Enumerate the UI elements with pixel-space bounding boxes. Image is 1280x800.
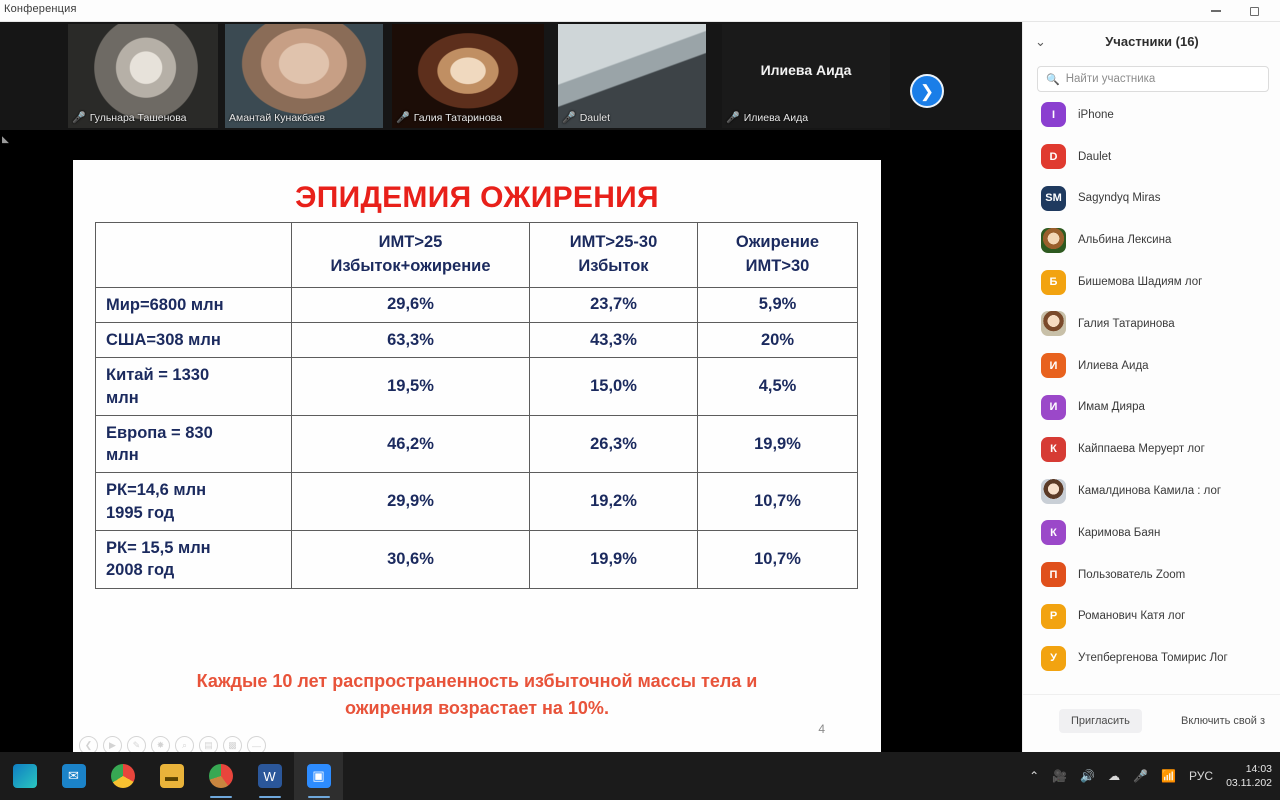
video-tile-centername: Илиева Аида — [722, 62, 890, 78]
row-value: 63,3% — [292, 323, 530, 358]
participants-panel-footer: Пригласить Включить свой з — [1023, 694, 1280, 752]
participant-row[interactable]: И Имам Дияра — [1023, 387, 1280, 429]
table-header-col3: Ожирение ИМТ>30 — [698, 223, 858, 288]
running-indicator — [259, 796, 281, 798]
video-tile-name: Амантай Кунакбаев — [229, 112, 325, 124]
row-value: 29,6% — [292, 287, 530, 322]
row-value: 43,3% — [530, 323, 698, 358]
participant-search-placeholder: Найти участника — [1066, 73, 1156, 85]
show-hidden-icons-icon[interactable]: ⌃ — [1029, 769, 1039, 783]
participant-name: Кайппаева Меруерт лог — [1078, 443, 1205, 455]
participant-name: Daulet — [1078, 151, 1111, 163]
row-value: 19,9% — [530, 530, 698, 588]
row-label: Китай = 1330 млн — [96, 358, 292, 416]
unmute-button[interactable]: Включить свой з — [1181, 709, 1280, 733]
taskbar-item-zoom[interactable]: ▣ — [294, 752, 343, 800]
row-label: РК=14,6 млн 1995 год — [96, 473, 292, 531]
table-row: РК= 15,5 млн 2008 год 30,6% 19,9% 10,7% — [96, 530, 858, 588]
row-value: 19,9% — [698, 415, 858, 473]
video-tile-namebar: 🎤 Daulet — [558, 110, 614, 126]
folder-icon: ▬ — [160, 764, 184, 788]
row-value: 10,7% — [698, 530, 858, 588]
muted-mic-icon: 🎤 — [562, 113, 576, 124]
row-value: 19,5% — [292, 358, 530, 416]
table-header-col1: ИМТ>25 Избыток+ожирение — [292, 223, 530, 288]
cloud-icon[interactable]: ☁ — [1108, 769, 1120, 783]
participant-row[interactable]: Альбина Лексина — [1023, 219, 1280, 261]
taskbar-app-icons: ✉ ▬ W ▣ — [0, 752, 343, 800]
row-label: США=308 млн — [96, 323, 292, 358]
zoom-meeting-window: Конференция 🎤 Гульнара Ташенова Амантай … — [0, 0, 1280, 800]
avatar: D — [1041, 144, 1066, 169]
video-tile-active[interactable]: Амантай Кунакбаев — [225, 24, 383, 128]
participant-row[interactable]: I iPhone — [1023, 94, 1280, 136]
video-tile[interactable]: 🎤 Daulet — [558, 24, 706, 128]
row-value: 4,5% — [698, 358, 858, 416]
video-tile-namebar: 🎤 Галия Татаринова — [392, 110, 506, 126]
chevron-right-icon: ❯ — [920, 83, 934, 100]
row-value: 15,0% — [530, 358, 698, 416]
participant-search-input[interactable]: 🔍 Найти участника — [1037, 66, 1269, 92]
avatar: Р — [1041, 604, 1066, 629]
avatar: Б — [1041, 270, 1066, 295]
slide-footer-note: Каждые 10 лет распространенность избыточ… — [113, 668, 841, 722]
participant-name: Утепбергенова Томирис Лог — [1078, 652, 1228, 664]
row-value: 5,9% — [698, 287, 858, 322]
avatar: К — [1041, 520, 1066, 545]
row-value: 26,3% — [530, 415, 698, 473]
edge-icon — [13, 764, 37, 788]
minimize-icon — [1211, 10, 1221, 12]
participant-row[interactable]: И Илиева Аида — [1023, 345, 1280, 387]
row-value: 19,2% — [530, 473, 698, 531]
participant-row[interactable]: Р Романович Катя лог — [1023, 596, 1280, 638]
presentation-slide: ЭПИДЕМИЯ ОЖИРЕНИЯ ИМТ>25 Избыток+ожирени… — [73, 160, 881, 760]
video-tile-name: Илиева Аида — [744, 112, 808, 124]
row-value: 23,7% — [530, 287, 698, 322]
participant-row[interactable]: Камалдинова Камила : лог — [1023, 470, 1280, 512]
participant-name: Бишемова Шадиям лог — [1078, 276, 1202, 288]
video-tile-audio-only[interactable]: Илиева Аида 🎤 Илиева Аида — [722, 24, 890, 128]
participants-panel: ⌄ Участники (16) 🔍 Найти участника I iPh… — [1022, 22, 1280, 752]
participant-name: Камалдинова Камила : лог — [1078, 485, 1221, 497]
row-value: 29,9% — [292, 473, 530, 531]
participant-name: Пользователь Zoom — [1078, 569, 1185, 581]
avatar: SM — [1041, 186, 1066, 211]
taskbar-item-chrome[interactable] — [98, 752, 147, 800]
table-row: Мир=6800 млн 29,6% 23,7% 5,9% — [96, 287, 858, 322]
participant-row[interactable]: П Пользователь Zoom — [1023, 554, 1280, 596]
table-header-blank — [96, 223, 292, 288]
participant-row[interactable]: Галия Татаринова — [1023, 303, 1280, 345]
system-tray: ⌃ 🎥 🔊 ☁ 🎤 📶 РУС 14:03 03.11.202 — [1029, 752, 1280, 800]
language-indicator[interactable]: РУС — [1189, 769, 1213, 783]
taskbar-item-edge[interactable] — [0, 752, 49, 800]
participant-name: Илиева Аида — [1078, 360, 1149, 372]
window-title: Конференция — [4, 3, 77, 15]
invite-button[interactable]: Пригласить — [1059, 709, 1142, 733]
row-label: РК= 15,5 млн 2008 год — [96, 530, 292, 588]
table-row: США=308 млн 63,3% 43,3% 20% — [96, 323, 858, 358]
participant-row[interactable]: SM Sagyndyq Miras — [1023, 178, 1280, 220]
volume-icon[interactable]: 🔊 — [1080, 769, 1095, 783]
word-icon: W — [258, 764, 282, 788]
avatar: У — [1041, 646, 1066, 671]
obesity-statistics-table: ИМТ>25 Избыток+ожирение ИМТ>25-30 Избыто… — [95, 222, 858, 589]
row-label: Европа = 830 млн — [96, 415, 292, 473]
avatar: П — [1041, 562, 1066, 587]
avatar-photo — [1041, 311, 1066, 336]
table-header-row: ИМТ>25 Избыток+ожирение ИМТ>25-30 Избыто… — [96, 223, 858, 288]
shared-screen-stage: ◣ ЭПИДЕМИЯ ОЖИРЕНИЯ ИМТ>25 Избыток+ожире… — [0, 130, 1022, 752]
row-value: 10,7% — [698, 473, 858, 531]
taskbar-item-word[interactable]: W — [245, 752, 294, 800]
row-value: 46,2% — [292, 415, 530, 473]
participant-name: Sagyndyq Miras — [1078, 192, 1160, 204]
table-header-col2: ИМТ>25-30 Избыток — [530, 223, 698, 288]
microphone-icon[interactable]: 🎤 — [1133, 769, 1148, 783]
participant-name: iPhone — [1078, 109, 1114, 121]
meeting-area: 🎤 Гульнара Ташенова Амантай Кунакбаев 🎤 … — [0, 22, 1022, 752]
avatar: К — [1041, 437, 1066, 462]
participant-name: Каримова Баян — [1078, 527, 1160, 539]
participant-row[interactable]: К Каримова Баян — [1023, 512, 1280, 554]
next-page-arrow-icon[interactable]: ❯ — [910, 74, 944, 108]
video-tile-name: Галия Татаринова — [414, 112, 502, 124]
network-icon[interactable]: 📶 — [1161, 769, 1176, 783]
clock[interactable]: 14:03 03.11.202 — [1226, 762, 1272, 790]
participant-name: Альбина Лексина — [1078, 234, 1171, 246]
avatar-photo — [1041, 479, 1066, 504]
row-value: 20% — [698, 323, 858, 358]
running-indicator — [308, 796, 330, 798]
search-icon: 🔍 — [1046, 73, 1060, 86]
participant-name: Романович Катя лог — [1078, 610, 1185, 622]
participant-row[interactable]: Б Бишемова Шадиям лог — [1023, 261, 1280, 303]
participant-row[interactable]: К Кайппаева Меруерт лог — [1023, 428, 1280, 470]
participants-panel-header: ⌄ Участники (16) — [1023, 22, 1280, 62]
avatar: И — [1041, 395, 1066, 420]
window-titlebar: Конференция — [0, 0, 1280, 22]
running-indicator — [210, 796, 232, 798]
stage-corner-marker: ◣ — [2, 134, 9, 145]
maximize-button[interactable] — [1238, 0, 1270, 22]
chrome-profile-icon — [209, 764, 233, 788]
camera-icon[interactable]: 🎥 — [1052, 769, 1067, 783]
row-label: Мир=6800 млн — [96, 287, 292, 322]
participant-row[interactable]: У Утепбергенова Томирис Лог — [1023, 637, 1280, 674]
minimize-button[interactable] — [1200, 0, 1232, 22]
table-row: Европа = 830 млн 46,2% 26,3% 19,9% — [96, 415, 858, 473]
participant-name: Имам Дияра — [1078, 401, 1145, 413]
table-row: Китай = 1330 млн 19,5% 15,0% 4,5% — [96, 358, 858, 416]
video-tile[interactable]: 🎤 Галия Татаринова — [392, 24, 544, 128]
video-tile-name: Гульнара Ташенова — [90, 112, 187, 124]
mail-icon: ✉ — [62, 764, 86, 788]
taskbar-item-explorer[interactable]: ▬ — [147, 752, 196, 800]
video-tile[interactable]: 🎤 Гульнара Ташенова — [68, 24, 218, 128]
video-tile-namebar: Амантай Кунакбаев — [225, 110, 329, 126]
clock-date: 03.11.202 — [1226, 776, 1272, 790]
windows-taskbar: ✉ ▬ W ▣ ⌃ 🎥 🔊 ☁ — [0, 752, 1280, 800]
chrome-icon — [111, 764, 135, 788]
video-tile-name: Daulet — [580, 112, 610, 124]
avatar-photo — [1041, 228, 1066, 253]
zoom-icon: ▣ — [307, 764, 331, 788]
participant-filmstrip[interactable]: 🎤 Гульнара Ташенова Амантай Кунакбаев 🎤 … — [0, 22, 1022, 130]
muted-mic-icon: 🎤 — [72, 113, 86, 124]
clock-time: 14:03 — [1226, 762, 1272, 776]
participant-name: Галия Татаринова — [1078, 318, 1175, 330]
participants-list[interactable]: I iPhone D Daulet SM Sagyndyq Miras Альб… — [1023, 94, 1280, 674]
slide-number: 4 — [818, 722, 825, 736]
taskbar-item-chrome-profile[interactable] — [196, 752, 245, 800]
slide-title: ЭПИДЕМИЯ ОЖИРЕНИЯ — [73, 181, 881, 215]
avatar: I — [1041, 102, 1066, 127]
avatar: И — [1041, 353, 1066, 378]
taskbar-item-mail[interactable]: ✉ — [49, 752, 98, 800]
muted-mic-icon: 🎤 — [396, 113, 410, 124]
table-row: РК=14,6 млн 1995 год 29,9% 19,2% 10,7% — [96, 473, 858, 531]
participants-panel-title: Участники (16) — [1023, 34, 1280, 49]
video-tile-namebar: 🎤 Гульнара Ташенова — [68, 110, 191, 126]
muted-mic-icon: 🎤 — [726, 113, 740, 124]
video-tile-namebar: 🎤 Илиева Аида — [722, 110, 812, 126]
maximize-icon — [1250, 7, 1259, 16]
participant-row[interactable]: D Daulet — [1023, 136, 1280, 178]
row-value: 30,6% — [292, 530, 530, 588]
